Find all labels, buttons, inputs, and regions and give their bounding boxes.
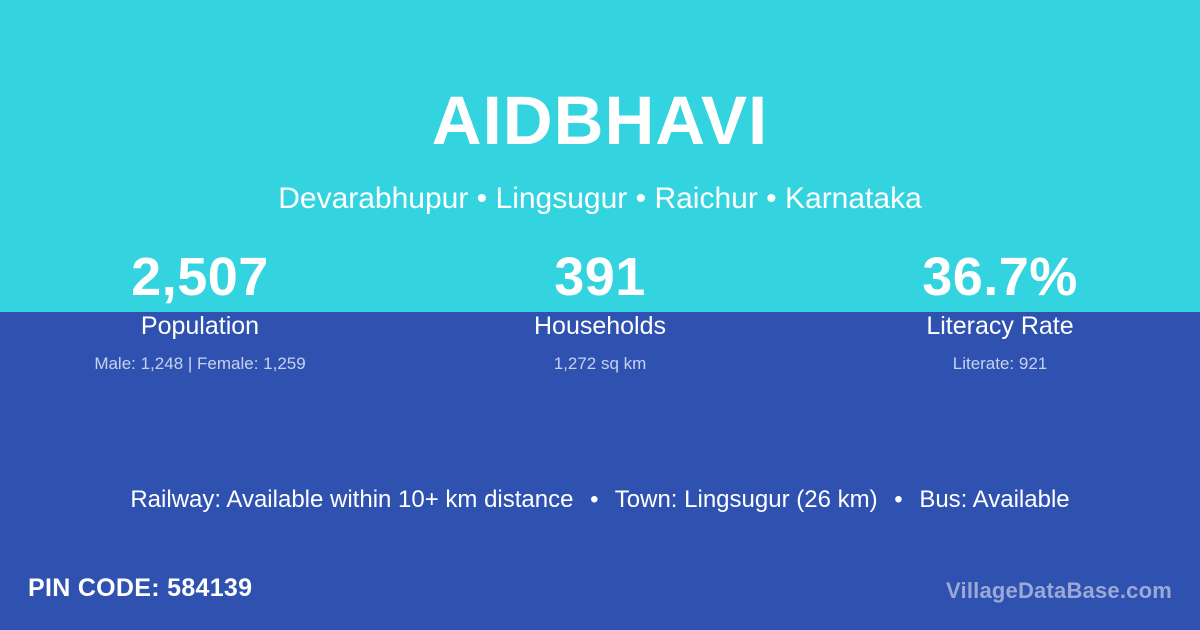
breadcrumb: Devarabhupur • Lingsugur • Raichur • Kar… — [0, 181, 1200, 217]
stat-sublabel: Literate: 921 — [800, 353, 1200, 375]
facility-bus: Bus: Available — [919, 486, 1069, 513]
stat-literacy-rate: 36.7% Literacy Rate Literate: 921 — [800, 246, 1200, 375]
stat-label: Literacy Rate — [800, 310, 1200, 343]
facility-railway: Railway: Available within 10+ km distanc… — [130, 486, 573, 513]
facility-separator-icon: • — [580, 486, 608, 513]
facility-separator-icon: • — [884, 486, 912, 513]
stat-households: 391 Households 1,272 sq km — [400, 246, 800, 375]
stat-population: 2,507 Population Male: 1,248 | Female: 1… — [0, 246, 400, 375]
facility-town: Town: Lingsugur (26 km) — [615, 486, 878, 513]
stat-label: Households — [400, 310, 800, 343]
stat-value: 36.7% — [800, 246, 1200, 308]
stat-sublabel: Male: 1,248 | Female: 1,259 — [0, 353, 400, 375]
brand-watermark: VillageDataBase.com — [946, 578, 1172, 604]
stat-label: Population — [0, 310, 400, 343]
pin-code: PIN CODE: 584139 — [28, 574, 252, 603]
page-title: AIDBHAVI — [0, 86, 1200, 155]
village-info-card: AIDBHAVI Devarabhupur • Lingsugur • Raic… — [0, 0, 1200, 630]
stat-value: 2,507 — [0, 246, 400, 308]
facilities-line: Railway: Available within 10+ km distanc… — [0, 484, 1200, 515]
stats-row: 2,507 Population Male: 1,248 | Female: 1… — [0, 246, 1200, 375]
stat-sublabel: 1,272 sq km — [400, 353, 800, 375]
stat-value: 391 — [400, 246, 800, 308]
